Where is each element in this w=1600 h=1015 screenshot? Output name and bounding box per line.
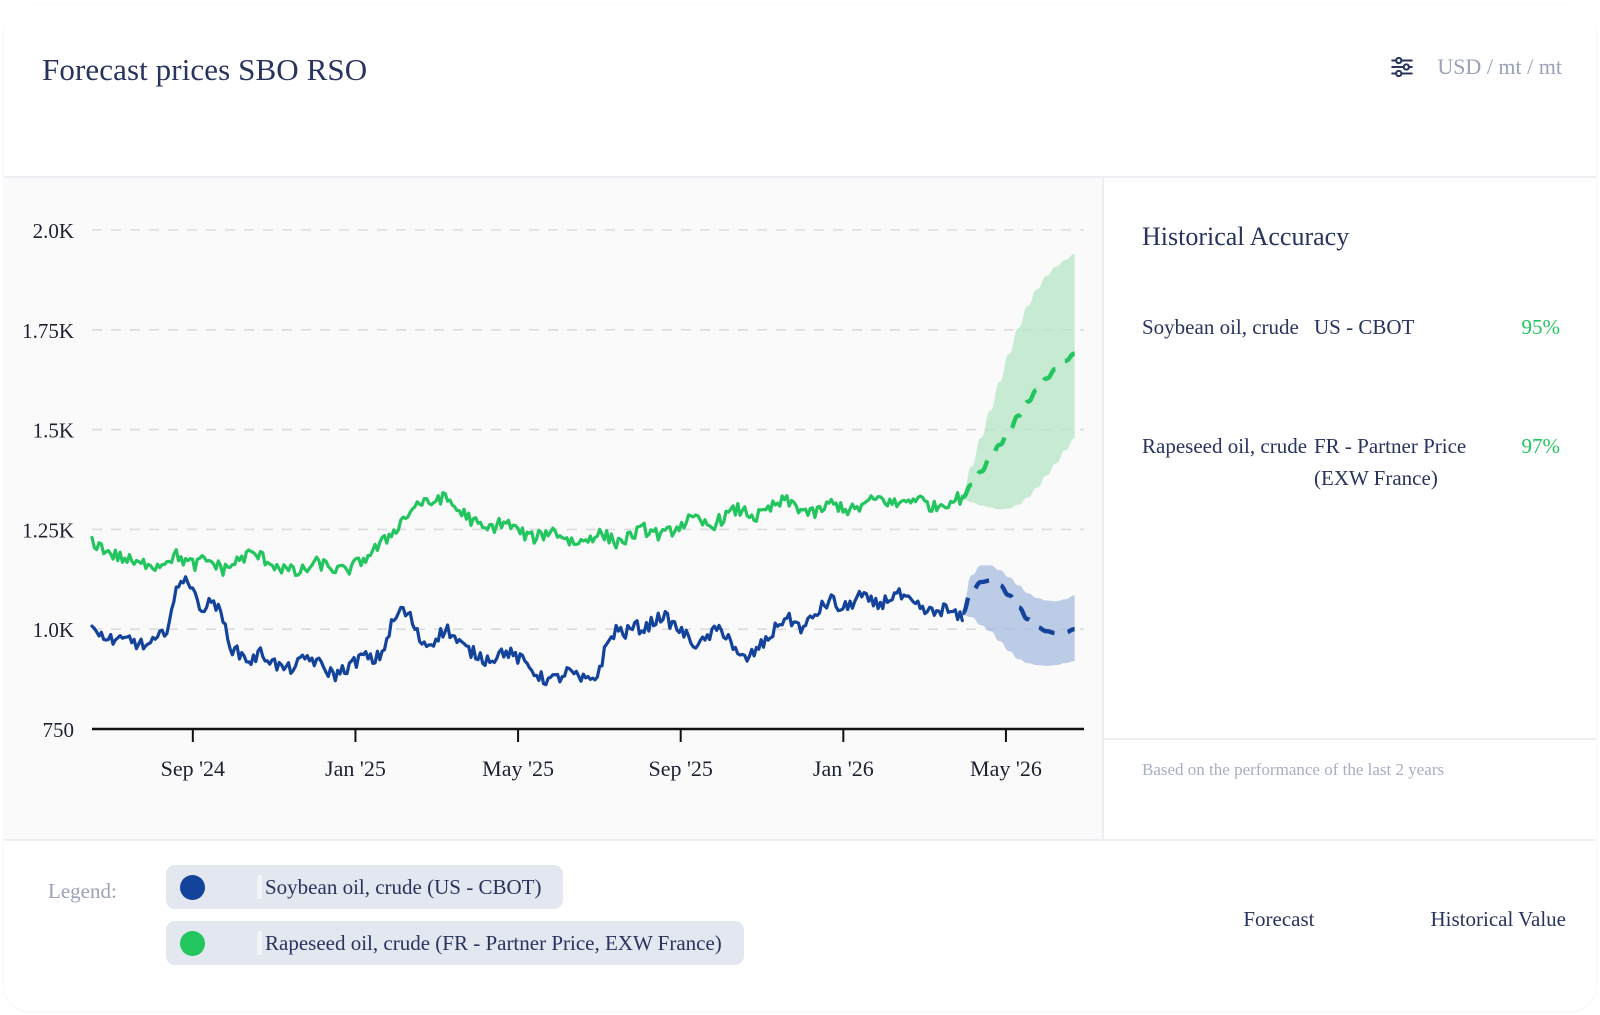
historical-line xyxy=(92,577,962,685)
accuracy-source: US - CBOT xyxy=(1314,312,1502,344)
legend-label: Legend: xyxy=(48,879,117,904)
y-axis-tick-label: 1.75K xyxy=(22,319,74,343)
accuracy-title: Historical Accuracy xyxy=(1142,222,1349,252)
accuracy-value: 95% xyxy=(1502,312,1560,344)
accuracy-row: Rapeseed oil, crude FR - Partner Price (… xyxy=(1142,431,1560,494)
legend-item-rapeseed[interactable]: Rapeseed oil, crude (FR - Partner Price,… xyxy=(166,921,744,965)
historical-line xyxy=(92,493,962,576)
divider xyxy=(1104,738,1596,740)
accuracy-value: 97% xyxy=(1502,431,1560,463)
forecast-card: Forecast prices SBO RSO USD / mt / mt 75… xyxy=(4,4,1596,1011)
forecast-key-label: Forecast xyxy=(1243,907,1314,932)
card-header: Forecast prices SBO RSO USD / mt / mt xyxy=(4,4,1596,178)
y-axis-tick-label: 1.25K xyxy=(22,518,74,542)
y-axis-tick-label: 1.5K xyxy=(33,419,74,443)
legend-item-soybean[interactable]: Soybean oil, crude (US - CBOT) xyxy=(166,865,563,909)
x-axis-tick-label: Jan '25 xyxy=(325,756,386,781)
accuracy-commodity-name: Rapeseed oil, crude xyxy=(1142,431,1314,463)
x-axis-tick-label: May '25 xyxy=(482,756,554,781)
chart-panel[interactable]: 7501.0K1.25K1.5K1.75K2.0KSep '24Jan '25M… xyxy=(4,178,1104,839)
x-axis-tick-label: Sep '25 xyxy=(648,756,712,781)
legend-color-dot xyxy=(180,875,205,900)
page-title: Forecast prices SBO RSO xyxy=(42,52,367,88)
accuracy-commodity-name: Soybean oil, crude xyxy=(1142,312,1314,344)
x-axis-tick-label: Jan '26 xyxy=(813,756,874,781)
y-axis-tick-label: 2.0K xyxy=(33,219,74,243)
price-forecast-chart[interactable]: 7501.0K1.25K1.5K1.75K2.0KSep '24Jan '25M… xyxy=(4,178,1102,839)
y-axis-tick-label: 1.0K xyxy=(33,618,74,642)
legend-footer: Legend: Soybean oil, crude (US - CBOT) R… xyxy=(4,839,1596,1011)
legend-item-label: Rapeseed oil, crude (FR - Partner Price,… xyxy=(265,931,722,956)
sliders-icon[interactable] xyxy=(1389,54,1415,80)
legend-color-dot xyxy=(180,931,205,956)
legend-item-label: Soybean oil, crude (US - CBOT) xyxy=(265,875,541,900)
legend-line-swatch xyxy=(257,931,262,955)
legend-line-swatch xyxy=(257,875,262,899)
accuracy-row: Soybean oil, crude US - CBOT 95% xyxy=(1142,312,1560,344)
y-axis-tick-label: 750 xyxy=(43,718,75,742)
unit-label: USD / mt / mt xyxy=(1437,54,1562,80)
accuracy-footnote: Based on the performance of the last 2 y… xyxy=(1142,760,1444,780)
series-type-keys: Forecast Historical Value xyxy=(1243,907,1566,932)
historical-accuracy-panel: Historical Accuracy Soybean oil, crude U… xyxy=(1104,178,1596,839)
legend-list: Soybean oil, crude (US - CBOT) Rapeseed … xyxy=(166,865,744,977)
x-axis-tick-label: May '26 xyxy=(970,756,1042,781)
accuracy-source: FR - Partner Price (EXW France) xyxy=(1314,431,1502,494)
x-axis-tick-label: Sep '24 xyxy=(161,756,225,781)
historical-key-label: Historical Value xyxy=(1431,907,1567,932)
unit-controls: USD / mt / mt xyxy=(1389,54,1562,80)
